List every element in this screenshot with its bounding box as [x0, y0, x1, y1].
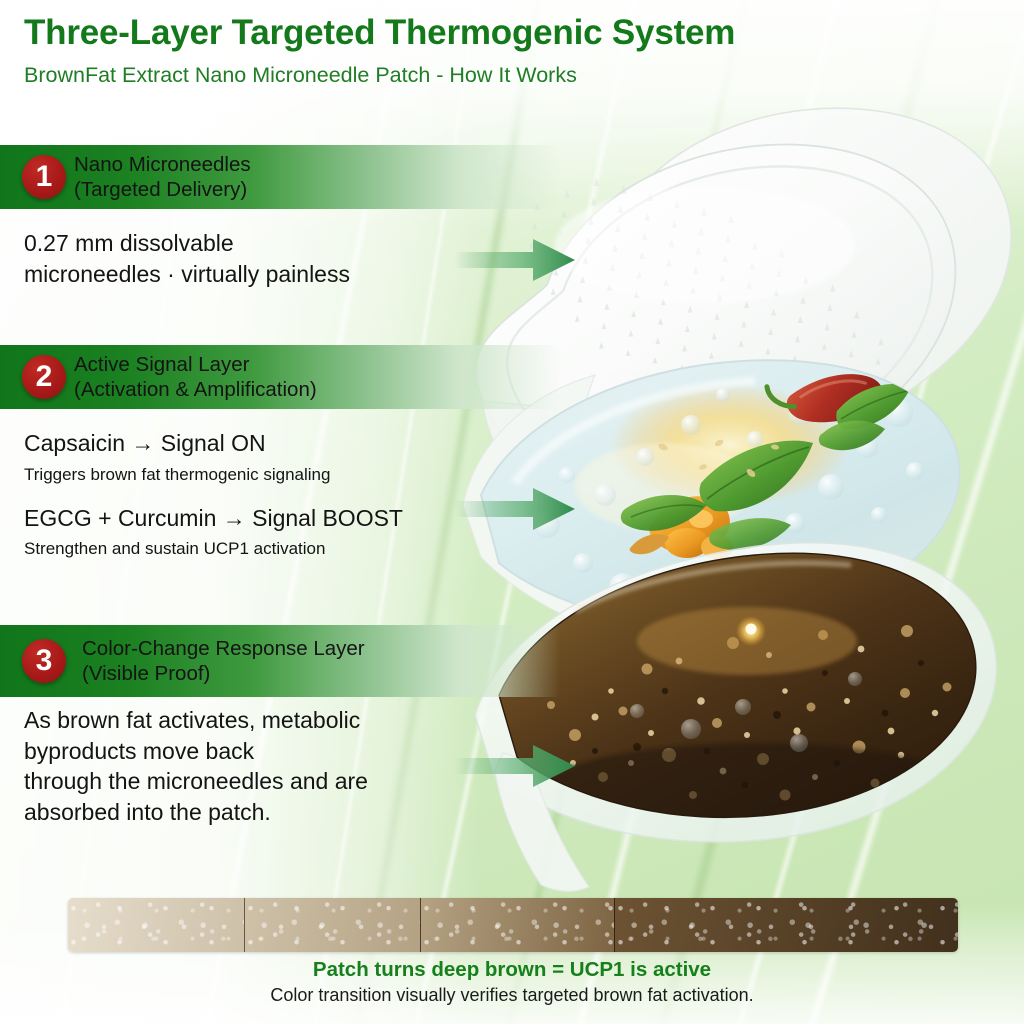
- swatch-segment-3: [420, 898, 614, 952]
- section-1-line-1: 0.27 mm dissolvable microneedles · virtu…: [24, 228, 494, 289]
- step-badge-1: 1: [22, 155, 66, 199]
- section-header-bar-1: 1 Nano Microneedles (Targeted Delivery): [0, 145, 560, 209]
- swatch-grain-4: [615, 898, 958, 952]
- section-body-1: 0.27 mm dissolvable microneedles · virtu…: [24, 228, 494, 289]
- swatch-grain-3: [421, 898, 614, 952]
- step-badge-2: 2: [22, 355, 66, 399]
- page-header: Three-Layer Targeted Thermogenic System …: [24, 14, 984, 88]
- section-2-line-3: EGCG + Curcumin → Signal BOOST: [24, 503, 494, 534]
- page-subtitle: BrownFat Extract Nano Microneedle Patch …: [24, 63, 984, 88]
- footer-caption-secondary: Color transition visually verifies targe…: [0, 985, 1024, 1006]
- section-body-3: As brown fat activates, metabolic byprod…: [24, 705, 494, 827]
- section-header-bar-3: 3 Color-Change Response Layer (Visible P…: [0, 625, 560, 697]
- swatch-grain-2: [245, 898, 421, 952]
- swatch-segment-2: [244, 898, 421, 952]
- color-transition-strip: [68, 898, 958, 952]
- step-badge-3: 3: [22, 639, 66, 683]
- page-title: Three-Layer Targeted Thermogenic System: [24, 14, 984, 53]
- section-body-2: Capsaicin → Signal ON Triggers brown fat…: [24, 428, 494, 560]
- footer-caption-primary: Patch turns deep brown = UCP1 is active: [0, 958, 1024, 982]
- swatch-grain-1: [68, 898, 244, 952]
- section-2-line-2: Triggers brown fat thermogenic signaling: [24, 464, 494, 486]
- section-2-line-4: Strengthen and sustain UCP1 activation: [24, 538, 494, 560]
- section-title-2: Active Signal Layer (Activation & Amplif…: [74, 352, 317, 402]
- swatch-segment-1: [68, 898, 244, 952]
- section-header-bar-2: 2 Active Signal Layer (Activation & Ampl…: [0, 345, 560, 409]
- section-title-3: Color-Change Response Layer (Visible Pro…: [82, 636, 365, 686]
- infographic-page: Three-Layer Targeted Thermogenic System …: [0, 0, 1024, 1024]
- section-3-line-1: As brown fat activates, metabolic byprod…: [24, 705, 494, 827]
- swatch-segment-4: [614, 898, 958, 952]
- section-title-1: Nano Microneedles (Targeted Delivery): [74, 152, 251, 202]
- section-2-line-1: Capsaicin → Signal ON: [24, 428, 494, 459]
